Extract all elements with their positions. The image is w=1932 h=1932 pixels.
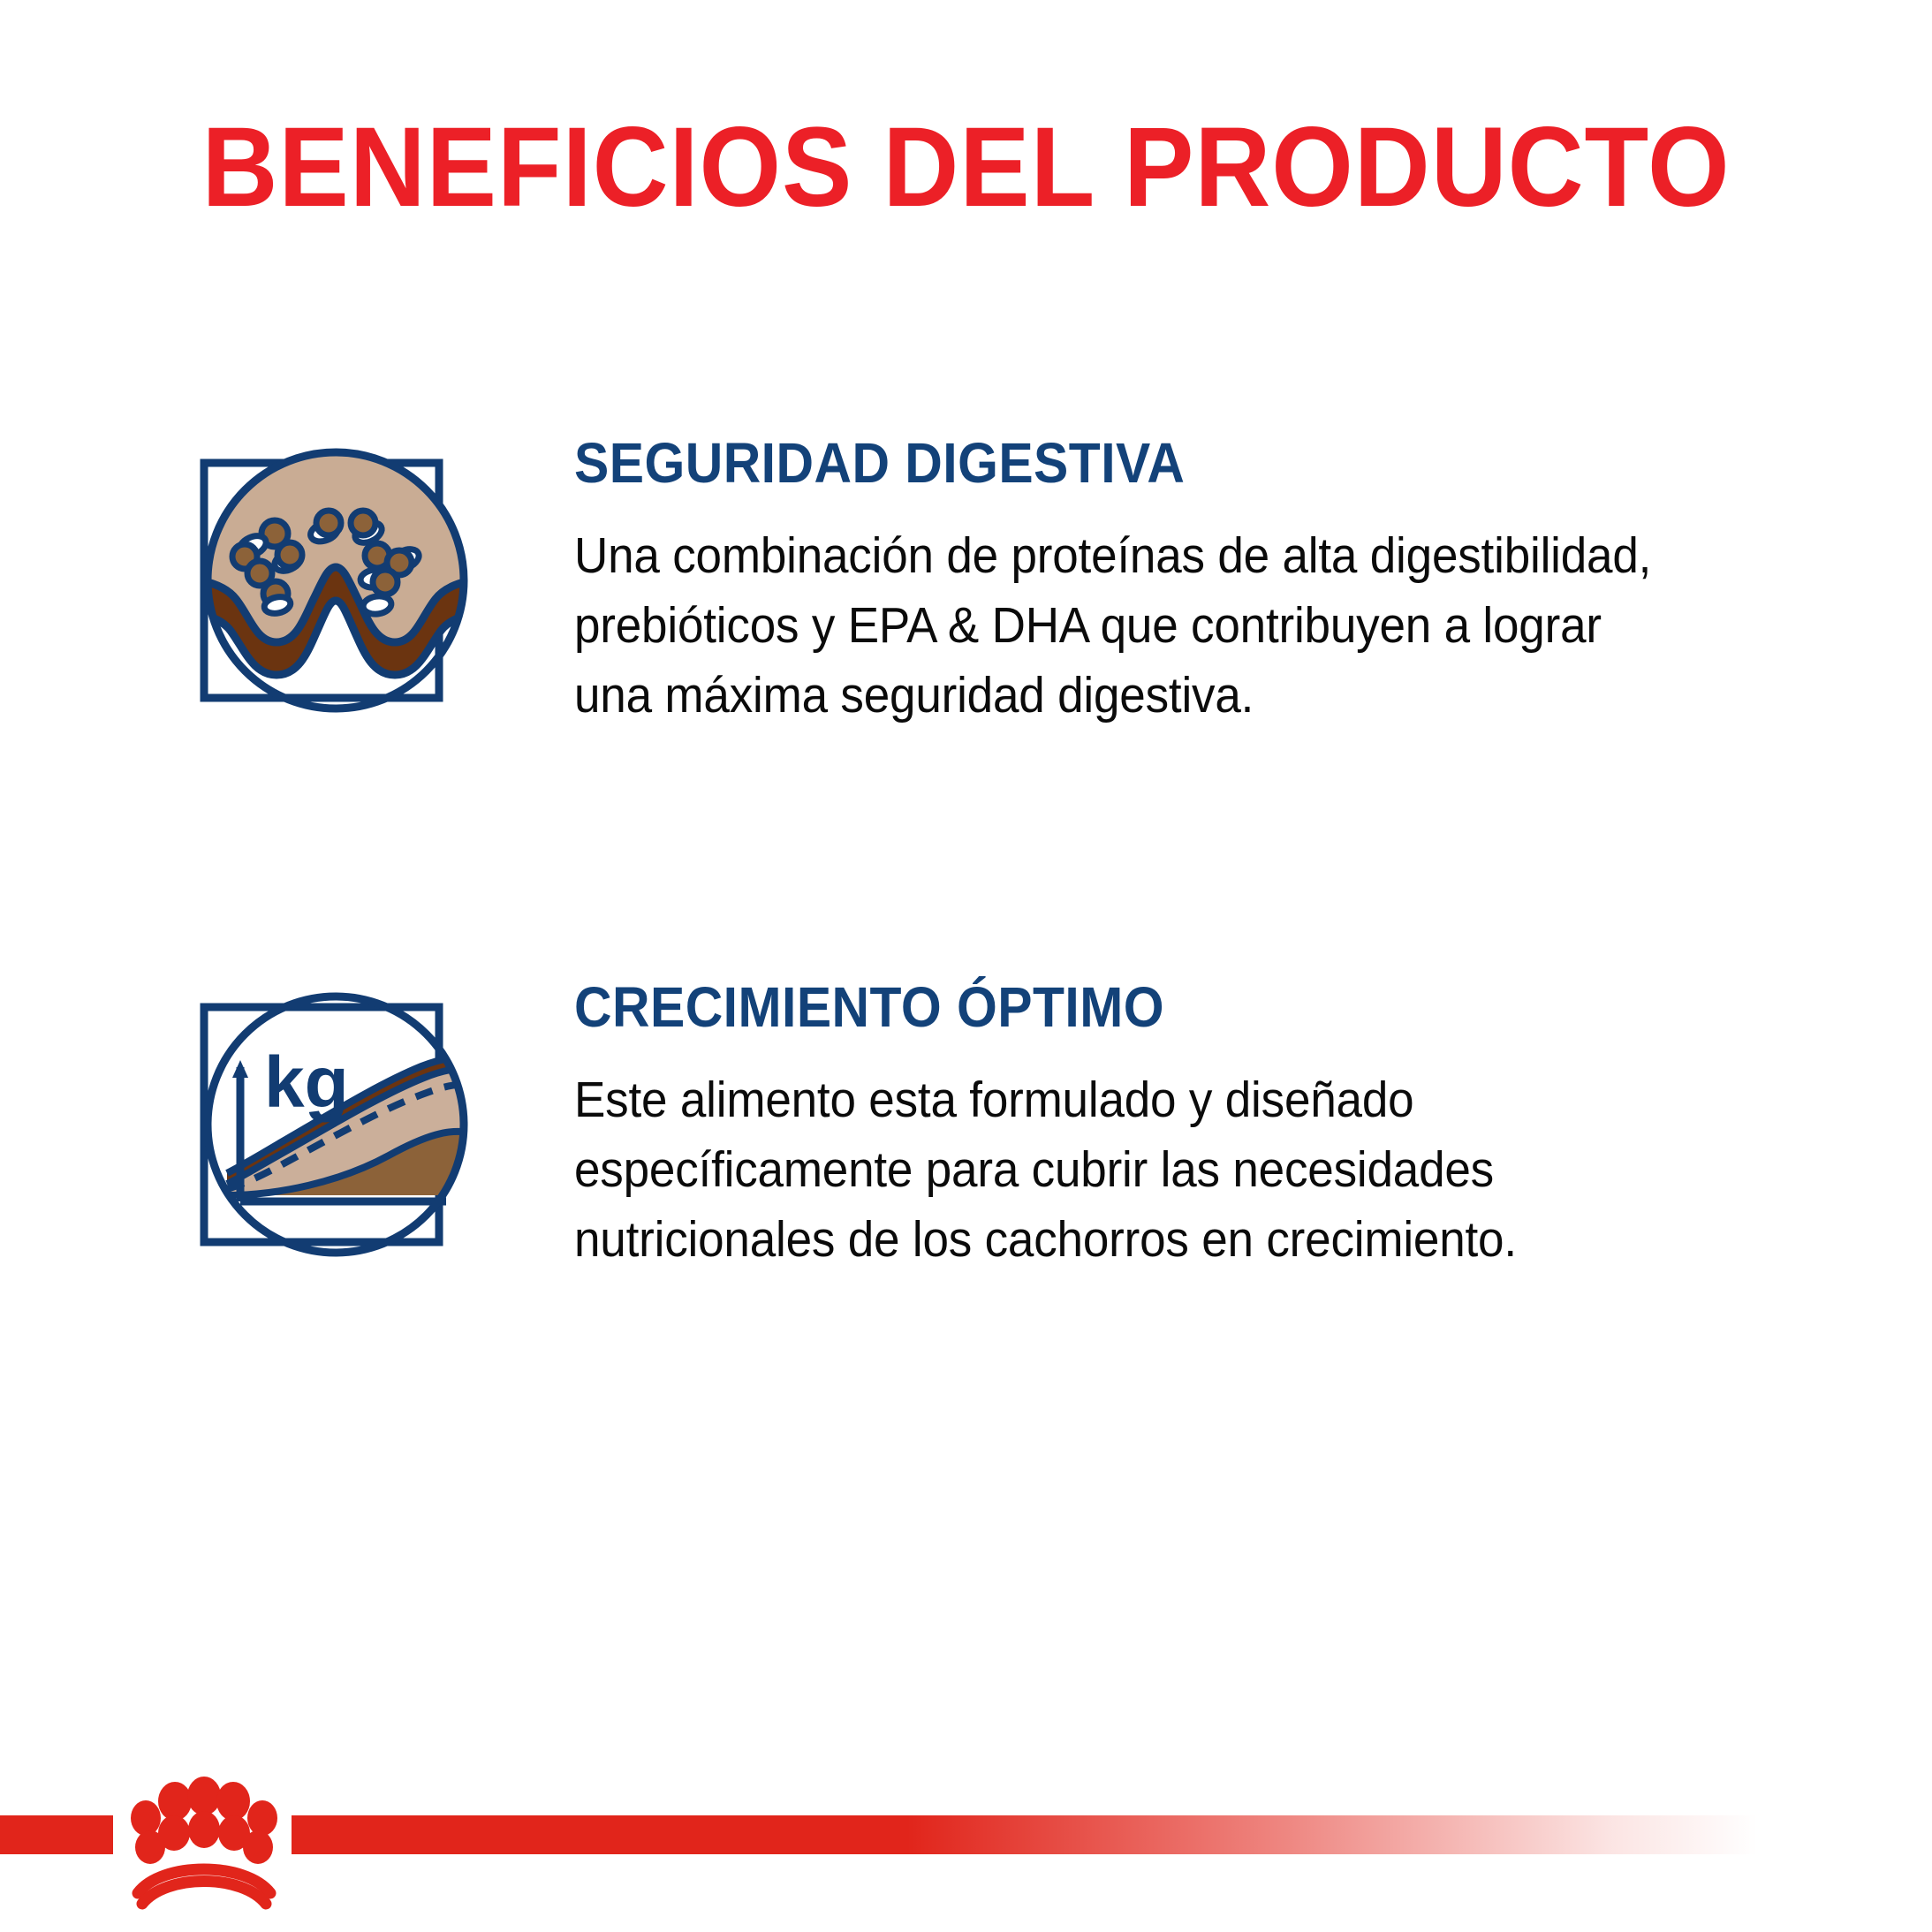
- benefit-item: SEGURIDAD DIGESTIVA Una combinación de p…: [0, 435, 1932, 731]
- kg-label: kg: [264, 1042, 349, 1123]
- benefit-heading: SEGURIDAD DIGESTIVA: [574, 435, 1712, 491]
- benefit-item: kg CRECIMIENTO ÓPTIMO Este alimento esta…: [0, 979, 1932, 1275]
- benefit-text-block: CRECIMIENTO ÓPTIMO Este alimento esta fo…: [574, 979, 1811, 1275]
- footer-bar-right: [292, 1815, 1758, 1854]
- footer-bar-left: [0, 1815, 113, 1854]
- footer: [0, 1755, 1932, 1932]
- benefit-body: Una combinación de proteínas de alta dig…: [574, 521, 1659, 731]
- benefit-heading: CRECIMIENTO ÓPTIMO: [574, 979, 1712, 1035]
- benefit-body: Este alimento esta formulado y diseñado …: [574, 1065, 1659, 1275]
- page-title: BENEFICIOS DEL PRODUCTO: [68, 111, 1865, 224]
- royal-canin-crown-logo: [113, 1762, 294, 1913]
- optimal-growth-icon: kg: [190, 979, 481, 1270]
- digestive-safety-icon: [190, 435, 481, 726]
- benefit-text-block: SEGURIDAD DIGESTIVA Una combinación de p…: [574, 435, 1811, 731]
